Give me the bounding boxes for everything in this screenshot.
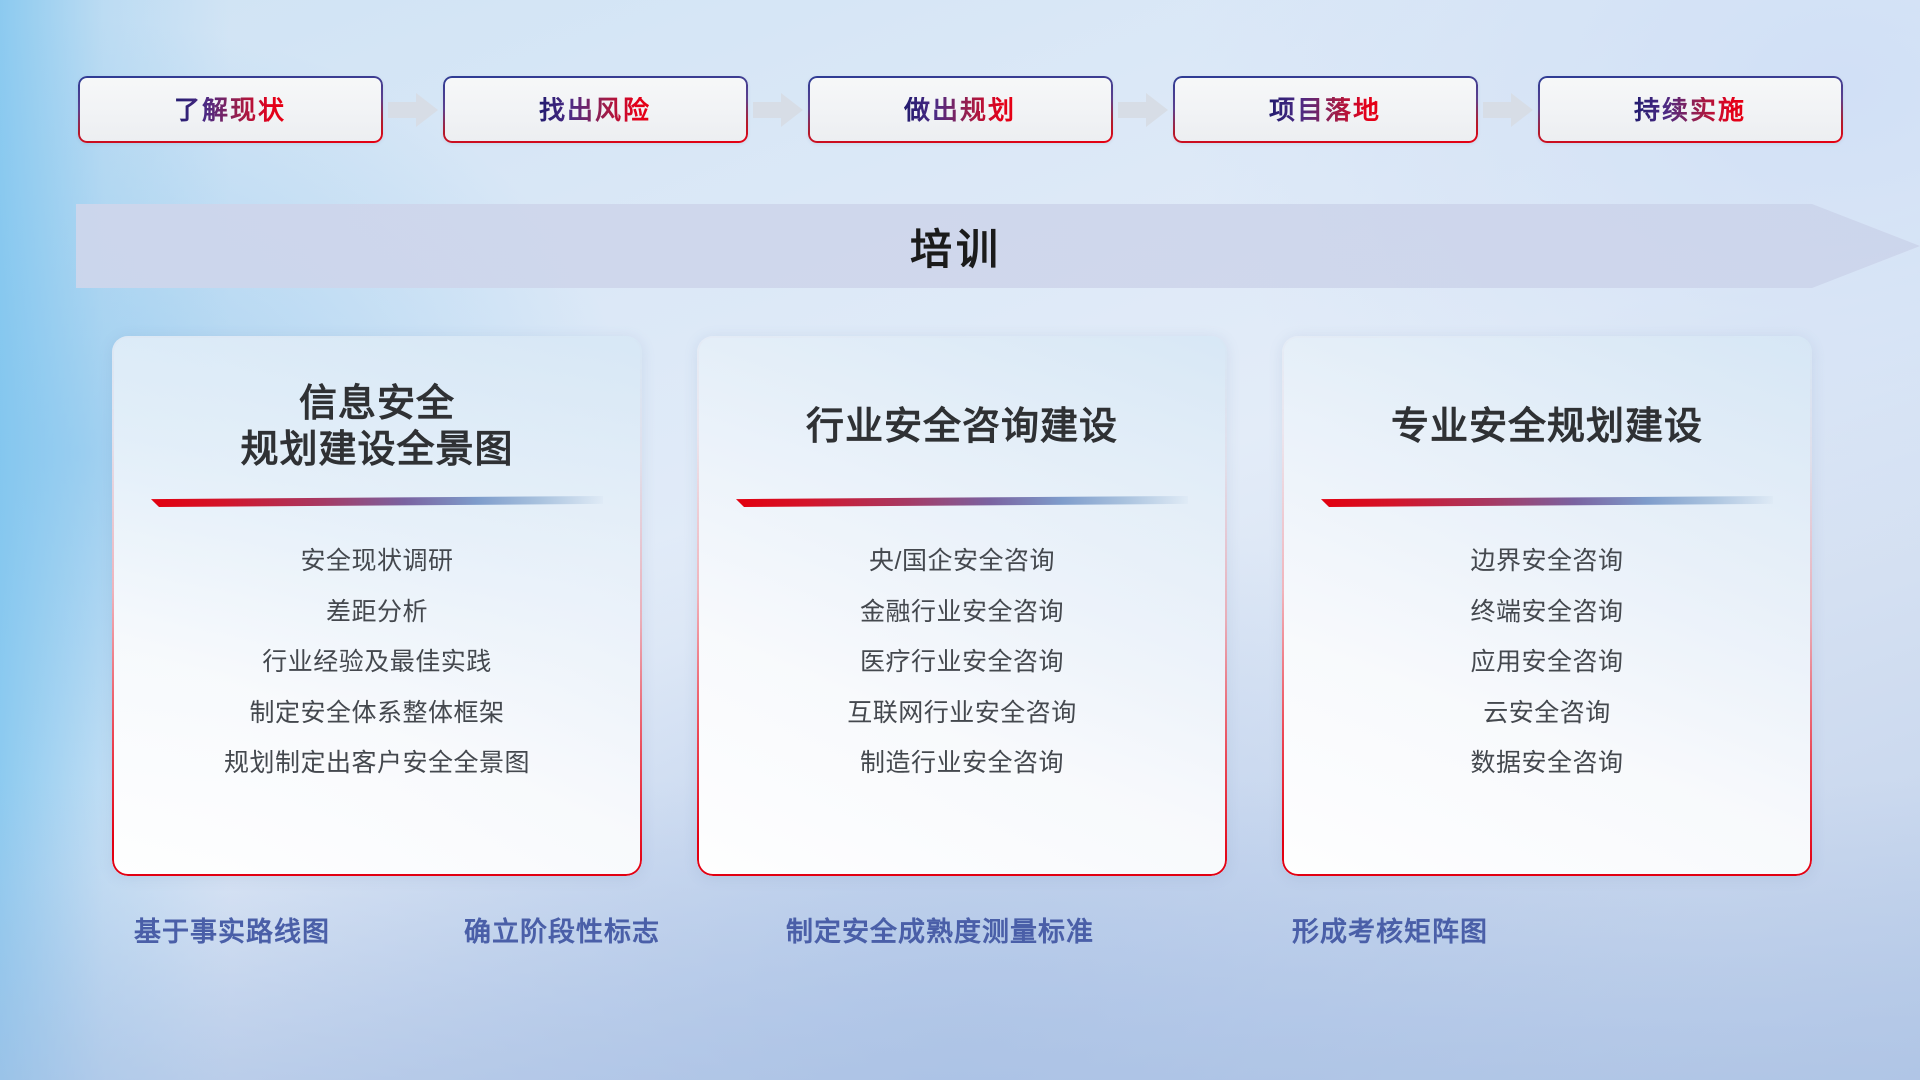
list-item: 医疗行业安全咨询: [860, 642, 1064, 683]
training-band: 培训: [76, 204, 1920, 288]
card-row: 信息安全 规划建设全景图 安全现状调研 差距分析 行业经验及最佳实践 制定安全体…: [112, 336, 1812, 876]
list-item: 边界安全咨询: [1470, 541, 1623, 582]
card-2-list: 央/国企安全咨询 金融行业安全咨询 医疗行业安全咨询 互联网行业安全咨询 制造行…: [847, 541, 1077, 784]
list-item: 制定安全体系整体框架: [249, 693, 504, 734]
process-step-row: 了解现状 找出风险 做出规划 项目落地 持续实施: [0, 76, 1920, 143]
card-3[interactable]: 专业安全规划建设 边界安全咨询 终端安全咨询 应用安全咨询 云安全咨询 数据安全…: [1282, 336, 1812, 876]
list-item: 央/国企安全咨询: [869, 541, 1055, 582]
arrow-right-icon: [1113, 93, 1173, 127]
step-box-4[interactable]: 项目落地: [1173, 76, 1478, 143]
step-box-5[interactable]: 持续实施: [1538, 76, 1843, 143]
step-label-2: 找出风险: [539, 97, 651, 123]
card-1[interactable]: 信息安全 规划建设全景图 安全现状调研 差距分析 行业经验及最佳实践 制定安全体…: [112, 336, 642, 876]
step-box-3[interactable]: 做出规划: [808, 76, 1113, 143]
card-3-title: 专业安全规划建设: [1391, 380, 1703, 474]
list-item: 应用安全咨询: [1470, 642, 1623, 683]
list-item: 行业经验及最佳实践: [262, 642, 492, 683]
list-item: 云安全咨询: [1483, 693, 1611, 734]
card-1-list: 安全现状调研 差距分析 行业经验及最佳实践 制定安全体系整体框架 规划制定出客户…: [224, 541, 530, 784]
card-3-accent-rule: [1321, 496, 1773, 507]
band-title: 培训: [76, 204, 1836, 288]
list-item: 制造行业安全咨询: [860, 743, 1064, 784]
card-2-title: 行业安全咨询建设: [806, 380, 1118, 474]
caption-2: 确立阶段性标志: [464, 910, 660, 949]
arrow-right-icon: [748, 93, 808, 127]
caption-4: 形成考核矩阵图: [1292, 910, 1488, 949]
list-item: 金融行业安全咨询: [860, 592, 1064, 633]
caption-3: 制定安全成熟度测量标准: [786, 910, 1094, 949]
step-box-2[interactable]: 找出风险: [443, 76, 748, 143]
list-item: 安全现状调研: [300, 541, 453, 582]
step-label-3: 做出规划: [904, 97, 1016, 123]
card-2[interactable]: 行业安全咨询建设 央/国企安全咨询 金融行业安全咨询 医疗行业安全咨询 互联网行…: [697, 336, 1227, 876]
step-label-1: 了解现状: [174, 97, 286, 123]
list-item: 规划制定出客户安全全景图: [224, 743, 530, 784]
arrow-right-icon: [383, 93, 443, 127]
card-2-accent-rule: [736, 496, 1188, 507]
caption-1: 基于事实路线图: [134, 910, 330, 949]
card-2-inner: 行业安全咨询建设 央/国企安全咨询 金融行业安全咨询 医疗行业安全咨询 互联网行…: [697, 336, 1227, 876]
caption-row: 基于事实路线图 确立阶段性标志 制定安全成熟度测量标准 形成考核矩阵图: [0, 910, 1920, 964]
arrow-right-icon: [1478, 93, 1538, 127]
card-1-inner: 信息安全 规划建设全景图 安全现状调研 差距分析 行业经验及最佳实践 制定安全体…: [112, 336, 642, 876]
list-item: 差距分析: [326, 592, 428, 633]
card-3-inner: 专业安全规划建设 边界安全咨询 终端安全咨询 应用安全咨询 云安全咨询 数据安全…: [1282, 336, 1812, 876]
step-label-4: 项目落地: [1269, 97, 1381, 123]
step-label-5: 持续实施: [1634, 97, 1746, 123]
card-1-title: 信息安全 规划建设全景图: [240, 380, 513, 474]
card-1-accent-rule: [151, 496, 603, 507]
card-3-list: 边界安全咨询 终端安全咨询 应用安全咨询 云安全咨询 数据安全咨询: [1470, 541, 1623, 784]
list-item: 互联网行业安全咨询: [847, 693, 1077, 734]
list-item: 终端安全咨询: [1470, 592, 1623, 633]
step-box-1[interactable]: 了解现状: [78, 76, 383, 143]
slide-canvas: 了解现状 找出风险 做出规划 项目落地 持续实施 培训: [0, 0, 1920, 1080]
list-item: 数据安全咨询: [1470, 743, 1623, 784]
